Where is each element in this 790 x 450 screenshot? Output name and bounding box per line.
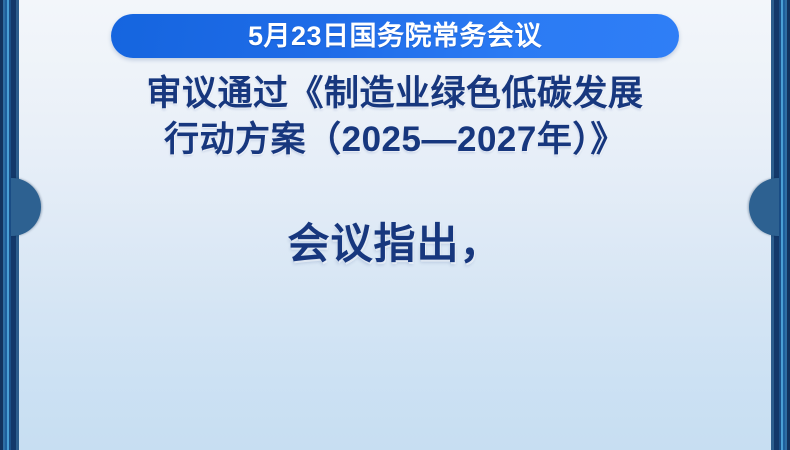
statement-line-2: 推进制造业绿色低碳发展	[22, 277, 768, 343]
poster-root: 5月23日国务院常务会议 审议通过《制造业绿色低碳发展 行动方案（2025—20…	[0, 0, 790, 450]
statement-line-1: 会议指出，	[22, 211, 768, 277]
statement-line-3: 是大势所趋，	[22, 343, 768, 409]
document-title: 审议通过《制造业绿色低碳发展 行动方案（2025—2027年）》	[22, 71, 768, 163]
document-title-line-1: 审议通过《制造业绿色低碳发展	[22, 71, 768, 117]
meeting-banner-label: 5月23日国务院常务会议	[248, 23, 542, 50]
document-title-line-2: 行动方案（2025—2027年）》	[22, 117, 768, 163]
meeting-banner: 5月23日国务院常务会议	[111, 14, 679, 58]
statement-body: 会议指出， 推进制造业绿色低碳发展 是大势所趋，	[22, 211, 768, 409]
poster-content: 5月23日国务院常务会议 审议通过《制造业绿色低碳发展 行动方案（2025—20…	[22, 0, 768, 450]
